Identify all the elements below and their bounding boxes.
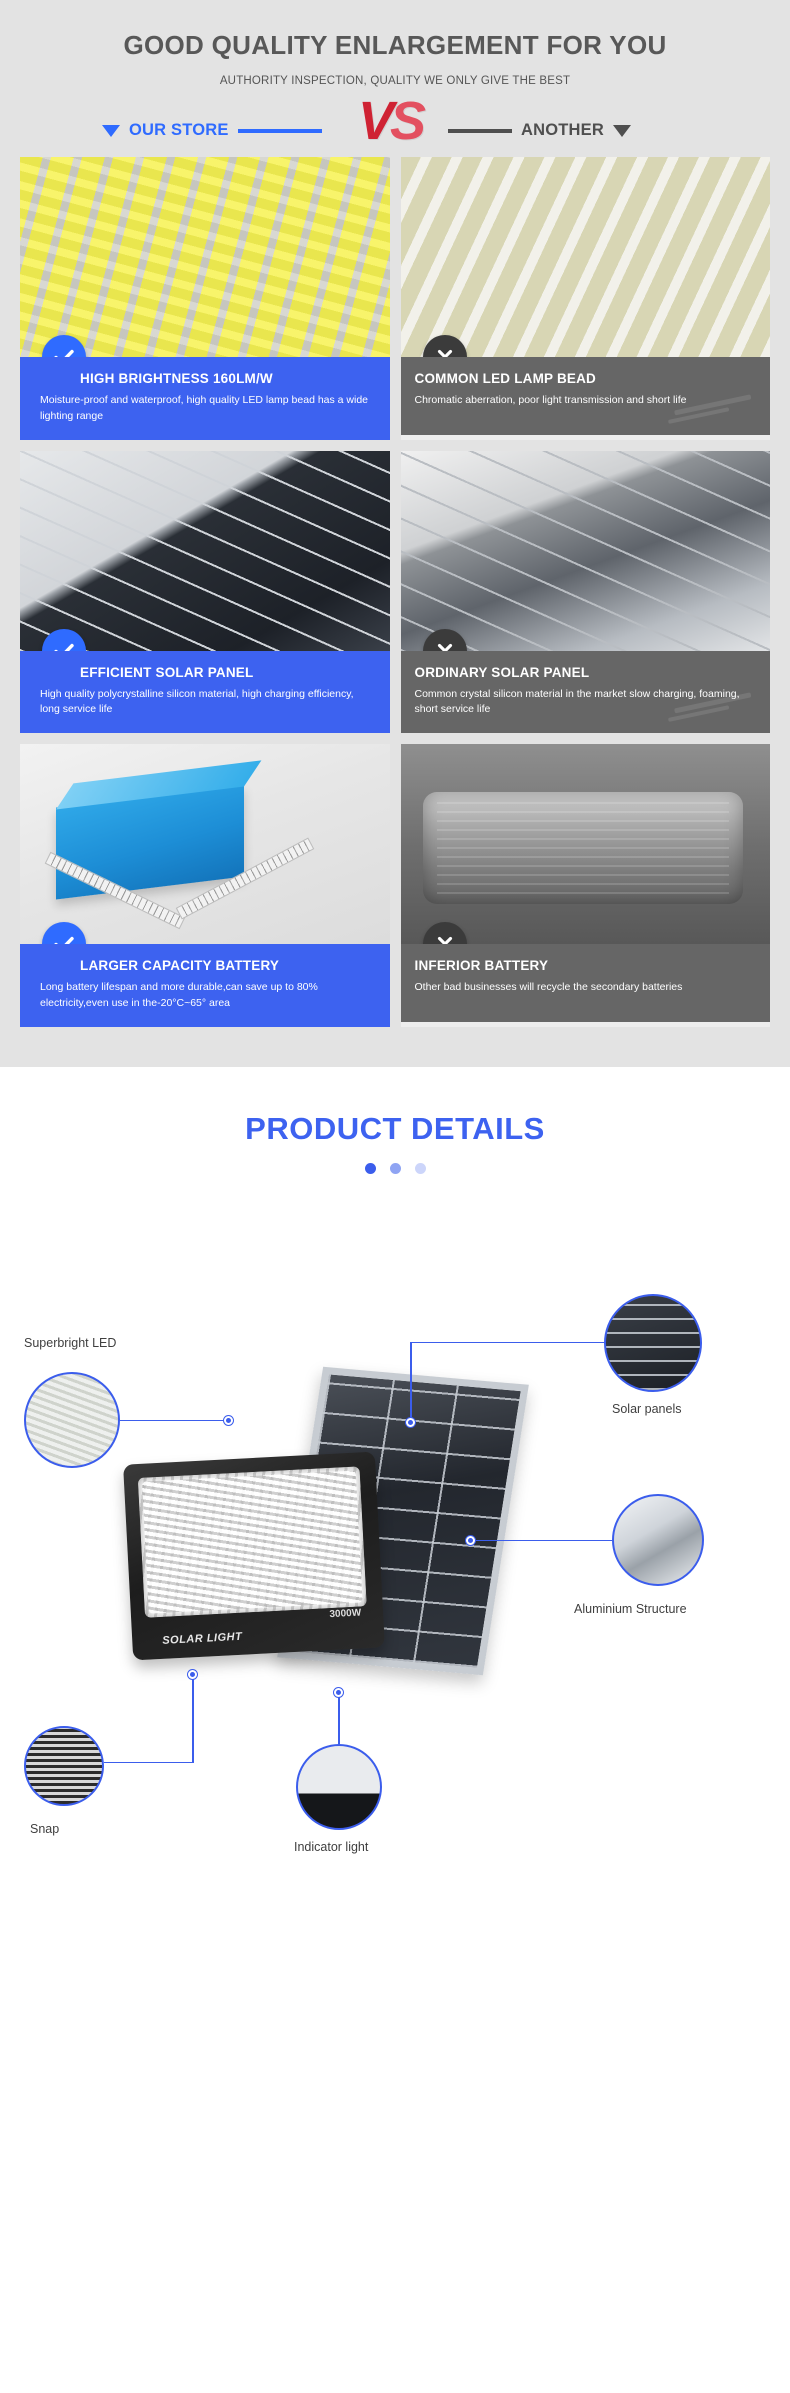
- cross-icon: [423, 922, 467, 944]
- page-subtitle: AUTHORITY INSPECTION, QUALITY WE ONLY GI…: [0, 75, 790, 87]
- photo-common-led: [401, 157, 771, 357]
- caption-title: ORDINARY SOLAR PANEL: [415, 665, 757, 680]
- callout-label-indicator-light: Indicator light: [294, 1840, 368, 1854]
- lamp-brand-text: SOLAR LIGHT: [162, 1630, 243, 1646]
- cross-icon: [423, 335, 467, 357]
- caption-title: COMMON LED LAMP BEAD: [415, 371, 757, 386]
- card-bad-battery: INFERIOR BATTERY Other bad businesses wi…: [401, 744, 771, 1027]
- decorative-dots: [0, 1163, 790, 1174]
- versus-banner: OUR STORE VS ANOTHER: [0, 93, 790, 151]
- check-icon: [42, 629, 86, 651]
- card-good-solar: EFFICIENT SOLAR PANEL High quality polyc…: [20, 451, 390, 734]
- product-diagram: SOLAR LIGHT 3000W Superbright LED Solar …: [0, 1196, 790, 1876]
- dot-1: [365, 1163, 376, 1174]
- leader-node-alum: [466, 1536, 475, 1545]
- leader-line-alum-h: [470, 1540, 612, 1542]
- caption-desc: Common crystal silicon material in the m…: [415, 687, 757, 719]
- photo-high-brightness-led: [20, 157, 390, 357]
- leader-node-solar: [406, 1418, 415, 1427]
- comparison-row-battery: LARGER CAPACITY BATTERY Long battery lif…: [0, 744, 790, 1027]
- card-bad-led: COMMON LED LAMP BEAD Chromatic aberratio…: [401, 157, 771, 440]
- dot-3: [415, 1163, 426, 1174]
- cross-icon: [423, 629, 467, 651]
- caption-bad-led: COMMON LED LAMP BEAD Chromatic aberratio…: [401, 357, 771, 435]
- card-good-led: HIGH BRIGHTNESS 160LM/W Moisture-proof a…: [20, 157, 390, 440]
- comparison-row-solar: EFFICIENT SOLAR PANEL High quality polyc…: [0, 451, 790, 734]
- another-store-group: ANOTHER: [448, 121, 631, 140]
- leader-line-led-h: [120, 1420, 228, 1422]
- section-title: PRODUCT DETAILS: [0, 1111, 790, 1147]
- leader-node-ind: [334, 1688, 343, 1697]
- callout-label-snap: Snap: [30, 1822, 59, 1836]
- vs-letter-s: S: [390, 91, 422, 151]
- caption-title: LARGER CAPACITY BATTERY: [34, 958, 376, 973]
- product-detail-page: GOOD QUALITY ENLARGEMENT FOR YOU AUTHORI…: [0, 0, 790, 1896]
- callout-label-superbright-led: Superbright LED: [24, 1336, 116, 1350]
- caption-desc: Moisture-proof and waterproof, high qual…: [34, 393, 376, 425]
- another-label: ANOTHER: [521, 121, 604, 140]
- photo-ordinary-solar-panel: [401, 451, 771, 651]
- battery-cylinder-illustration: [423, 792, 743, 904]
- caption-bad-solar: ORDINARY SOLAR PANEL Common crystal sili…: [401, 651, 771, 734]
- our-store-group: OUR STORE: [102, 121, 322, 140]
- caption-desc: High quality polycrystalline silicon mat…: [34, 687, 376, 719]
- caption-desc: Other bad businesses will recycle the se…: [415, 980, 757, 996]
- callout-circle-aluminium-structure: [612, 1494, 704, 1586]
- card-bad-solar: ORDINARY SOLAR PANEL Common crystal sili…: [401, 451, 771, 734]
- caption-good-led: HIGH BRIGHTNESS 160LM/W Moisture-proof a…: [20, 357, 390, 440]
- vs-logo: VS: [358, 91, 436, 157]
- chevron-down-icon-gray: [613, 125, 631, 137]
- caption-good-battery: LARGER CAPACITY BATTERY Long battery lif…: [20, 944, 390, 1027]
- callout-circle-snap: [24, 1726, 104, 1806]
- check-icon: [42, 335, 86, 357]
- floodlight-illustration: SOLAR LIGHT 3000W: [123, 1451, 385, 1660]
- leader-line-solar-h: [410, 1342, 604, 1344]
- leader-line-snap-h: [104, 1762, 194, 1764]
- page-title: GOOD QUALITY ENLARGEMENT FOR YOU: [0, 30, 790, 61]
- photo-efficient-solar-panel: [20, 451, 390, 651]
- card-good-battery: LARGER CAPACITY BATTERY Long battery lif…: [20, 744, 390, 1027]
- caption-good-solar: EFFICIENT SOLAR PANEL High quality polyc…: [20, 651, 390, 734]
- photo-larger-capacity-battery: [20, 744, 390, 944]
- leader-line-snap-v: [192, 1674, 194, 1762]
- leader-line-solar-v: [410, 1342, 412, 1422]
- caption-title: HIGH BRIGHTNESS 160LM/W: [34, 371, 376, 386]
- photo-inferior-battery: [401, 744, 771, 944]
- callout-circle-superbright-led: [24, 1372, 120, 1468]
- lamp-wattage-text: 3000W: [329, 1607, 361, 1620]
- caption-desc: Chromatic aberration, poor light transmi…: [415, 393, 757, 409]
- caption-desc: Long battery lifespan and more durable,c…: [34, 980, 376, 1012]
- led-face: [138, 1466, 367, 1617]
- vs-letter-v: V: [358, 91, 390, 151]
- caption-bad-battery: INFERIOR BATTERY Other bad businesses wi…: [401, 944, 771, 1022]
- our-store-label: OUR STORE: [129, 121, 229, 140]
- chevron-down-icon: [102, 125, 120, 137]
- caption-title: EFFICIENT SOLAR PANEL: [34, 665, 376, 680]
- callout-circle-solar-panels: [604, 1294, 702, 1392]
- callout-label-solar-panels: Solar panels: [612, 1402, 682, 1416]
- check-icon: [42, 922, 86, 944]
- leader-line-ind-v: [338, 1692, 340, 1744]
- callout-label-aluminium-structure: Aluminium Structure: [574, 1602, 687, 1616]
- comparison-section: GOOD QUALITY ENLARGEMENT FOR YOU AUTHORI…: [0, 0, 790, 1067]
- divider-gray: [448, 129, 512, 133]
- dot-2: [390, 1163, 401, 1174]
- comparison-row-led: HIGH BRIGHTNESS 160LM/W Moisture-proof a…: [0, 157, 790, 440]
- leader-node-led: [224, 1416, 233, 1425]
- product-details-section: PRODUCT DETAILS SOLAR LIGHT 3000W Superb…: [0, 1067, 790, 1896]
- leader-node-snap: [188, 1670, 197, 1679]
- divider-blue: [238, 129, 322, 133]
- caption-title: INFERIOR BATTERY: [415, 958, 757, 973]
- callout-circle-indicator-light: [296, 1744, 382, 1830]
